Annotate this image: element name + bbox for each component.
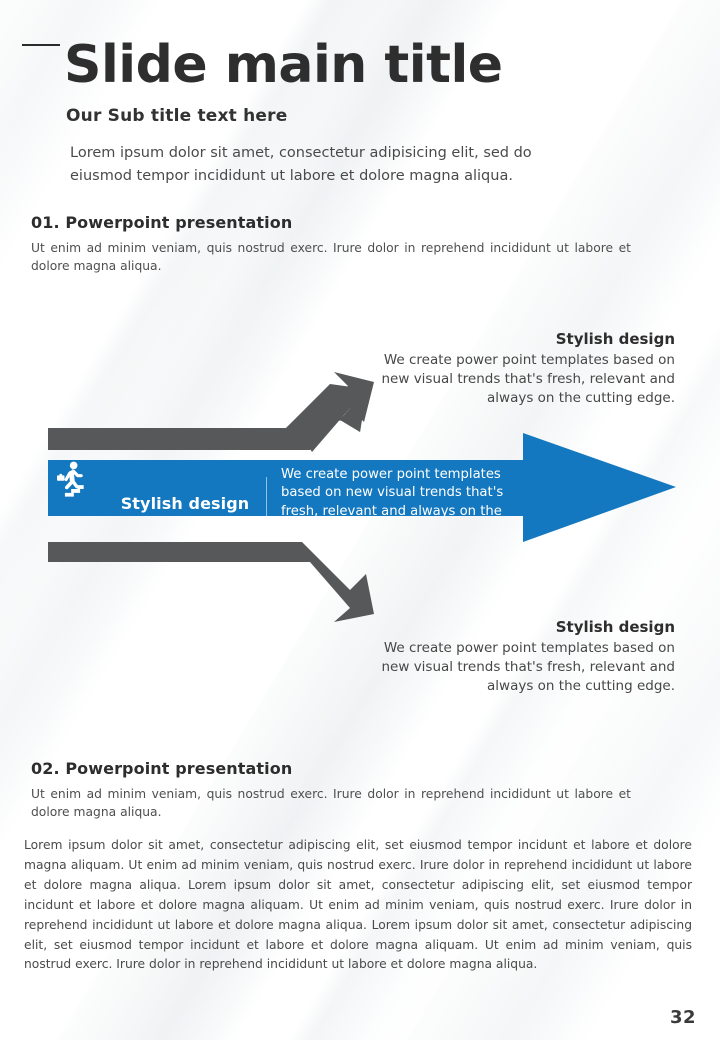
gray-arrow-up [48, 372, 374, 452]
section-01: 01. Powerpoint presentation Ut enim ad m… [31, 213, 651, 276]
slide-canvas: Slide main title Our Sub title text here… [0, 0, 720, 1040]
gray-arrow-down [48, 542, 374, 622]
callout-bottom: Stylish design We create power point tem… [375, 618, 675, 696]
bottom-paragraph: Lorem ipsum dolor sit amet, consectetur … [24, 836, 692, 975]
section-02: 02. Powerpoint presentation Ut enim ad m… [31, 759, 651, 822]
callout-top-title: Stylish design [375, 330, 675, 348]
section-02-body: Ut enim ad minim veniam, quis nostrud ex… [31, 785, 631, 822]
blue-bar-body: We create power point templates based on… [281, 466, 522, 541]
callout-top-body: We create power point templates based on… [375, 351, 675, 408]
section-02-title: 02. Powerpoint presentation [31, 759, 651, 778]
callout-bottom-body: We create power point templates based on… [375, 639, 675, 696]
section-01-body: Ut enim ad minim veniam, quis nostrud ex… [31, 239, 631, 276]
section-01-title: 01. Powerpoint presentation [31, 213, 651, 232]
page-subtitle: Our Sub title text here [66, 106, 287, 126]
callout-bottom-title: Stylish design [375, 618, 675, 636]
page-number: 32 [670, 1007, 696, 1028]
blue-bar-content: Stylish design We create power point tem… [52, 460, 522, 546]
callout-top: Stylish design We create power point tem… [375, 330, 675, 408]
page-title: Slide main title [64, 38, 503, 93]
blue-bar-divider [266, 477, 267, 529]
lead-paragraph: Lorem ipsum dolor sit amet, consectetur … [70, 142, 590, 188]
title-accent-dash [22, 44, 60, 46]
blue-bar-heading: Stylish design [110, 494, 260, 513]
